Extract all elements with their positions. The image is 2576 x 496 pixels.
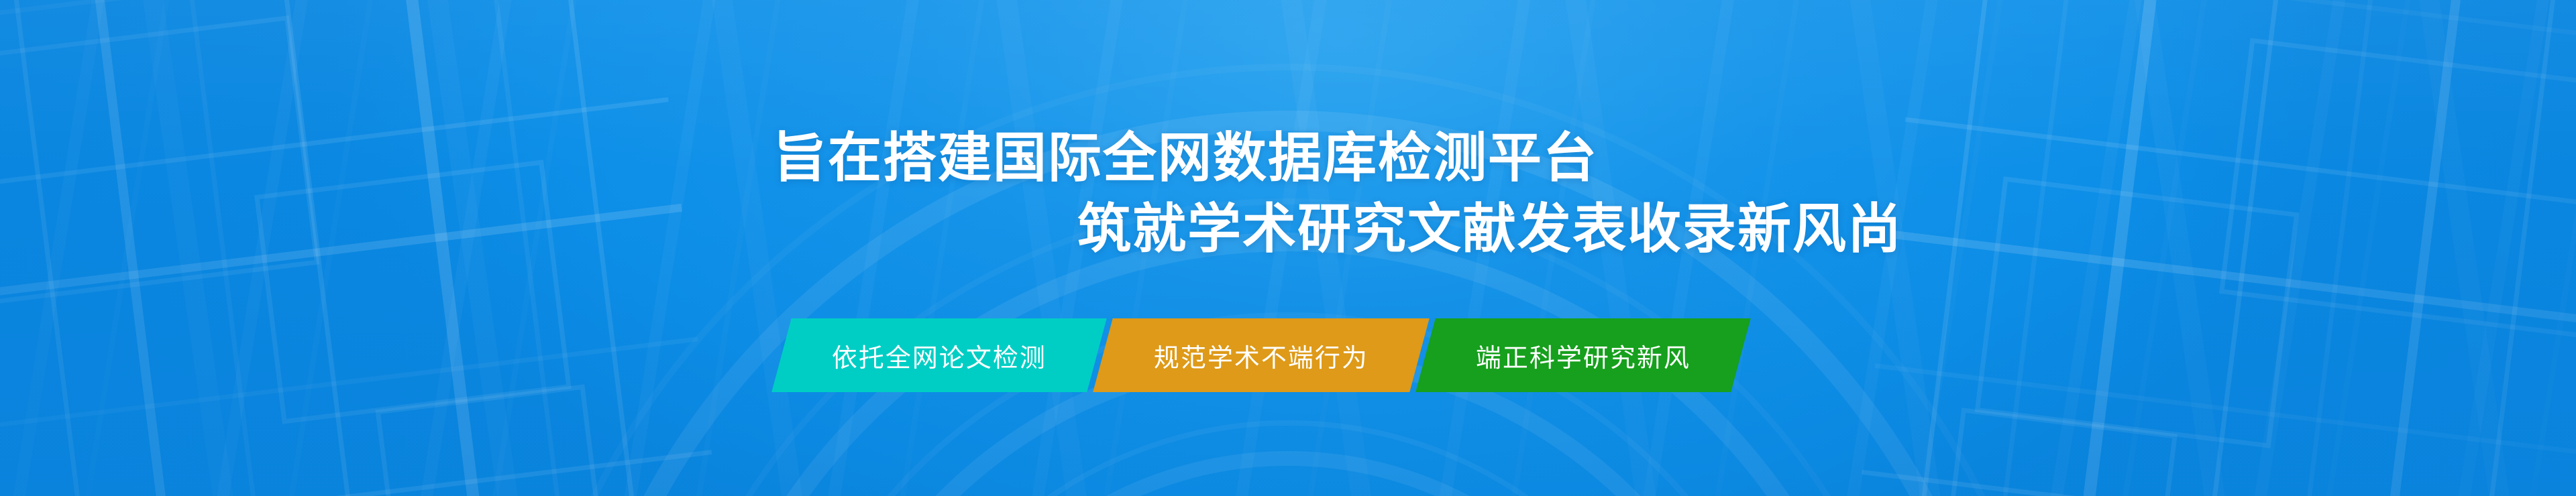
tag-label: 依托全网论文检测 <box>832 337 1046 374</box>
banner-content: 旨在搭建国际全网数据库检测平台 筑就学术研究文献发表收录新风尚 依托全网论文检测… <box>0 0 2576 496</box>
tag-gui-fan-xue-shu-bu-duan[interactable]: 规范学术不端行为 <box>1093 318 1429 392</box>
tag-label: 端正科学研究新风 <box>1476 337 1690 374</box>
headline-line-1: 旨在搭建国际全网数据库检测平台 <box>773 131 1598 185</box>
feature-tag-strip: 依托全网论文检测 规范学术不端行为 端正科学研究新风 <box>782 318 1741 392</box>
tag-quan-wang-lun-wen-jian-ce[interactable]: 依托全网论文检测 <box>771 318 1106 392</box>
headline-line-2: 筑就学术研究文献发表收录新风尚 <box>1077 202 1902 256</box>
tag-label: 规范学术不端行为 <box>1154 337 1368 374</box>
tag-duan-zheng-ke-xue-yan-jiu[interactable]: 端正科学研究新风 <box>1415 318 1750 392</box>
hero-banner: 旨在搭建国际全网数据库检测平台 筑就学术研究文献发表收录新风尚 依托全网论文检测… <box>0 0 2576 496</box>
